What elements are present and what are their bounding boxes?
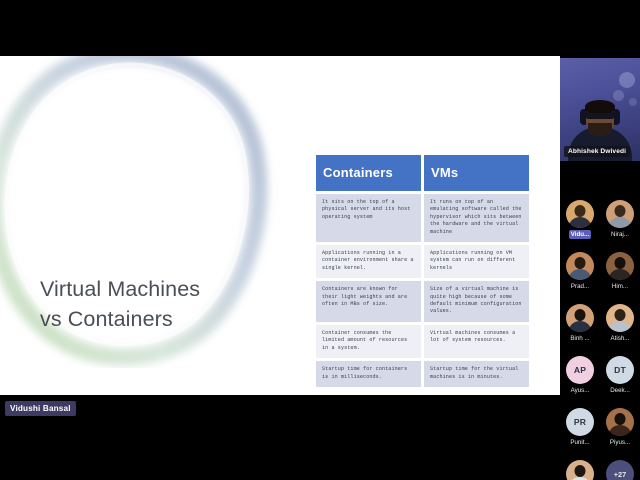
comparison-table: Containers VMs It sits on the top of a p… [313,152,532,390]
cell-containers: Containers are known for their light wei… [316,281,421,322]
cell-containers: Applications running in a container envi… [316,245,421,278]
active-speaker-name: Abhishek Dwivedi [564,146,630,158]
background-bokeh [619,72,635,88]
participant-photo-avatar [566,304,594,332]
participant-photo-avatar [606,408,634,436]
participant-rail: Abhishek Dwivedi Vidu...Niraj...Prad...H… [560,0,640,480]
cell-vms: Applications running on VM system can ru… [424,245,529,278]
participant-initials-avatar: PR [566,408,594,436]
active-speaker-tile[interactable]: Abhishek Dwivedi [560,58,640,161]
column-header-vms: VMs [424,155,529,191]
participant-tile[interactable]: Niraj... [600,196,640,248]
participant-name: Vidu... [569,230,591,239]
participant-overflow-badge[interactable]: +27 [606,460,634,480]
participant-tile[interactable]: Atish... [600,300,640,352]
participant-photo-avatar [566,200,594,228]
participant-tile[interactable]: Him... [600,248,640,300]
participant-name: Prad... [569,282,591,291]
participant-name: Piyus... [608,438,632,447]
participant-photo-avatar [566,460,594,480]
participant-name: Binh ... [568,334,591,343]
participant-grid: Vidu...Niraj...Prad...Him...Binh ...Atis… [560,196,640,480]
screen-share-meeting-view: Virtual Machines vs Containers Container… [0,0,640,480]
participant-photo-avatar [566,252,594,280]
table-head: Containers VMs [316,155,529,191]
participant-name: Ayus... [569,386,592,395]
participant-tile[interactable]: Vidu... [560,196,600,248]
presenter-name-tag: Vidushi Bansal [5,401,76,416]
cell-vms: Virtual machines consumes a lot of syste… [424,325,529,358]
participant-tile[interactable]: APAyus... [560,352,600,404]
participant-name: Niraj... [609,230,631,239]
table-body: It sits on the top of a physical server … [316,194,529,387]
cell-vms: Size of a virtual machine is quite high … [424,281,529,322]
participant-initials-avatar: DT [606,356,634,384]
participant-tile[interactable]: DTDeek... [600,352,640,404]
cell-containers: Startup time for containers is in millis… [316,361,421,387]
participant-photo-avatar [606,304,634,332]
participant-tile[interactable]: Prad... [560,248,600,300]
table-row: Container consumes the limited amount of… [316,325,529,358]
participant-initials-avatar: AP [566,356,594,384]
table-row: It sits on the top of a physical server … [316,194,529,242]
table-header-row: Containers VMs [316,155,529,191]
shared-slide: Virtual Machines vs Containers Container… [0,56,560,395]
cell-containers: It sits on the top of a physical server … [316,194,421,242]
participant-tile[interactable]: +27 [600,456,640,480]
participant-tile[interactable]: Rahu... [560,456,600,480]
participant-tile[interactable]: PRPunit... [560,404,600,456]
cell-vms: It runs on top of an emulating software … [424,194,529,242]
cell-vms: Startup time for the virtual machines is… [424,361,529,387]
participant-photo-avatar [606,200,634,228]
participant-photo-avatar [606,252,634,280]
participant-name: Punit... [568,438,591,447]
participant-tile[interactable]: Binh ... [560,300,600,352]
participant-name: Deek... [608,386,632,395]
table-row: Containers are known for their light wei… [316,281,529,322]
slide-title: Virtual Machines vs Containers [40,274,290,334]
cell-containers: Container consumes the limited amount of… [316,325,421,358]
table-row: Startup time for containers is in millis… [316,361,529,387]
table-row: Applications running in a container envi… [316,245,529,278]
column-header-containers: Containers [316,155,421,191]
glasses-icon [586,112,614,119]
participant-name: Him... [610,282,630,291]
participant-name: Atish... [609,334,632,343]
participant-tile[interactable]: Piyus... [600,404,640,456]
